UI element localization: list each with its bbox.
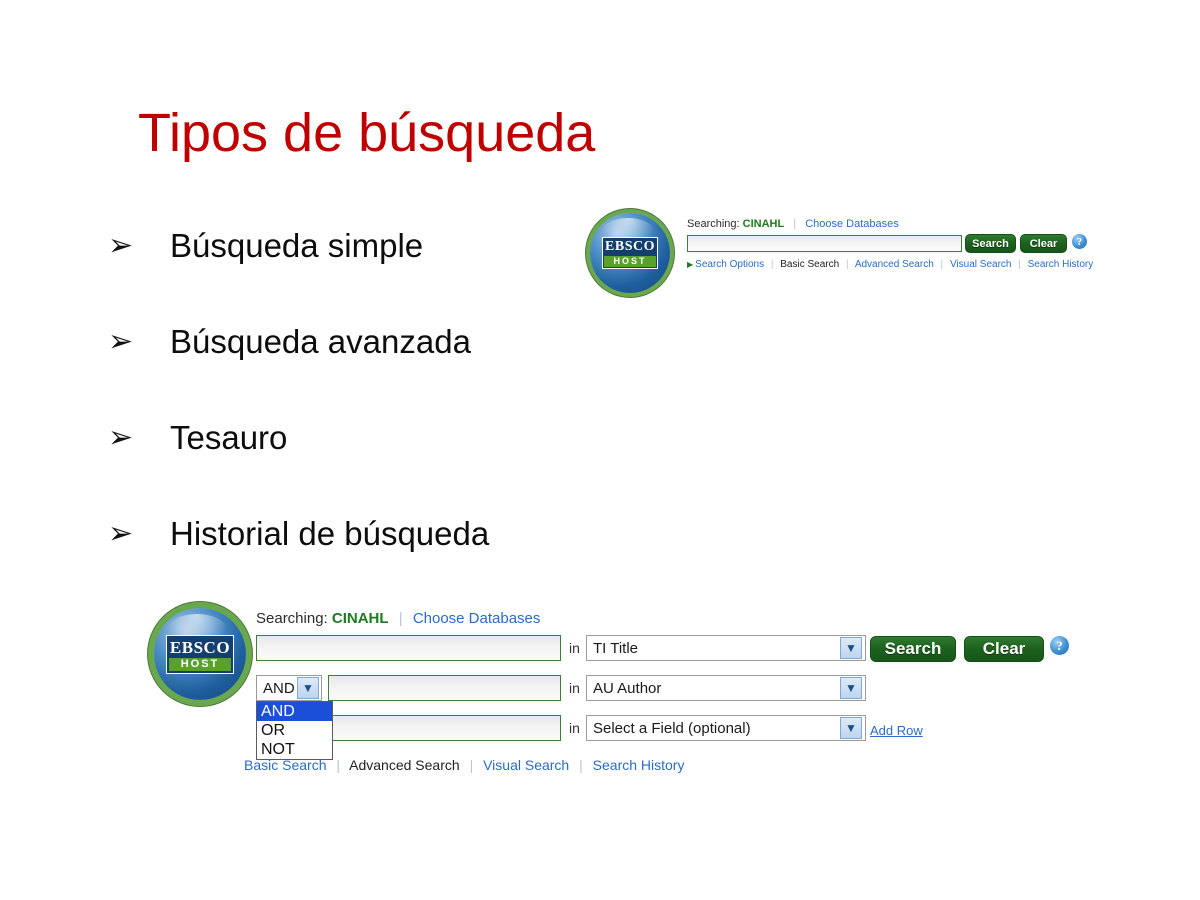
field-select-1[interactable]: TI Title ▼: [586, 635, 866, 661]
search-input[interactable]: [687, 235, 962, 252]
clear-button[interactable]: Clear: [1020, 234, 1067, 253]
list-item-label: Tesauro: [170, 416, 287, 460]
field-select-2[interactable]: AU Author ▼: [586, 675, 866, 701]
arrow-bullet-icon: ➢: [108, 320, 170, 364]
search-button[interactable]: Search: [965, 234, 1016, 253]
triangle-right-icon: ▶: [687, 260, 693, 269]
list-item: ➢ Historial de búsqueda: [108, 512, 628, 608]
in-label: in: [569, 640, 580, 656]
list-item-label: Búsqueda avanzada: [170, 320, 471, 364]
field-select-1-value: TI Title: [587, 640, 840, 657]
chevron-down-icon[interactable]: ▼: [840, 717, 862, 739]
help-icon[interactable]: ?: [1050, 636, 1069, 655]
ebsco-advanced-search-widget: EBSCO HOST Searching: CINAHL | Choose Da…: [148, 600, 1078, 780]
search-term-input-3[interactable]: [328, 715, 561, 741]
host-wordmark: HOST: [169, 658, 231, 671]
ebscohost-logo: EBSCO HOST: [590, 213, 670, 293]
ebscohost-logo-mark: EBSCO HOST: [166, 635, 234, 674]
add-row-link[interactable]: Add Row: [870, 723, 923, 738]
advanced-search-link[interactable]: Advanced Search: [349, 757, 460, 773]
separator: |: [399, 610, 403, 627]
visual-search-link[interactable]: Visual Search: [950, 259, 1012, 270]
boolean-operator-select[interactable]: AND ▼: [256, 675, 322, 701]
basic-search-link[interactable]: Basic Search: [780, 259, 839, 270]
choose-databases-link[interactable]: Choose Databases: [413, 610, 541, 627]
search-term-input-1[interactable]: [256, 635, 561, 661]
chevron-down-icon[interactable]: ▼: [297, 677, 319, 699]
active-database-name: CINAHL: [743, 218, 785, 230]
separator: |: [941, 259, 944, 270]
ebsco-wordmark: EBSCO: [604, 239, 656, 256]
separator: |: [771, 259, 774, 270]
ebscohost-logo-mark: EBSCO HOST: [602, 237, 658, 269]
list-item-label: Historial de búsqueda: [170, 512, 489, 556]
arrow-bullet-icon: ➢: [108, 224, 170, 268]
searching-bar: Searching: CINAHL | Choose Databases: [687, 218, 899, 230]
search-button[interactable]: Search: [870, 636, 956, 662]
page-title: Tipos de búsqueda: [138, 101, 595, 165]
field-select-2-value: AU Author: [587, 680, 840, 697]
list-item-label: Búsqueda simple: [170, 224, 423, 268]
help-icon[interactable]: ?: [1072, 234, 1087, 249]
boolean-operator-value: AND: [257, 680, 297, 697]
visual-search-link[interactable]: Visual Search: [483, 757, 569, 773]
chevron-down-icon[interactable]: ▼: [840, 637, 862, 659]
searching-label: Searching:: [256, 610, 328, 627]
dropdown-option-or[interactable]: OR: [257, 721, 332, 740]
in-label: in: [569, 720, 580, 736]
searching-bar: Searching: CINAHL | Choose Databases: [256, 610, 540, 627]
ebsco-wordmark: EBSCO: [169, 638, 231, 658]
list-item: ➢ Búsqueda simple: [108, 224, 628, 320]
list-item: ➢ Búsqueda avanzada: [108, 320, 628, 416]
search-term-input-2[interactable]: [328, 675, 561, 701]
searching-label: Searching:: [687, 218, 740, 230]
ebscohost-logo: EBSCO HOST: [154, 608, 246, 700]
list-item: ➢ Tesauro: [108, 416, 628, 512]
chevron-down-icon[interactable]: ▼: [840, 677, 862, 699]
separator: |: [1018, 259, 1021, 270]
advanced-search-link[interactable]: Advanced Search: [855, 259, 934, 270]
in-label: in: [569, 680, 580, 696]
dropdown-option-and[interactable]: AND: [257, 702, 332, 721]
bullet-list: ➢ Búsqueda simple ➢ Búsqueda avanzada ➢ …: [108, 224, 628, 608]
ebsco-basic-search-widget: EBSCO HOST Searching: CINAHL | Choose Da…: [582, 205, 1092, 297]
boolean-operator-dropdown-list[interactable]: AND OR NOT: [256, 701, 333, 760]
arrow-bullet-icon: ➢: [108, 416, 170, 460]
choose-databases-link[interactable]: Choose Databases: [805, 218, 899, 230]
search-history-link[interactable]: Search History: [1028, 259, 1094, 270]
search-history-link[interactable]: Search History: [593, 757, 685, 773]
separator: |: [579, 757, 583, 773]
dropdown-option-not[interactable]: NOT: [257, 740, 332, 759]
separator: |: [470, 757, 474, 773]
field-select-3-value: Select a Field (optional): [587, 720, 840, 737]
search-options-link[interactable]: Search Options: [695, 259, 764, 270]
clear-button[interactable]: Clear: [964, 636, 1044, 662]
separator: |: [336, 757, 340, 773]
field-select-3[interactable]: Select a Field (optional) ▼: [586, 715, 866, 741]
search-mode-nav: ▶Search Options | Basic Search | Advance…: [687, 259, 1093, 270]
host-wordmark: HOST: [604, 256, 656, 267]
arrow-bullet-icon: ➢: [108, 512, 170, 556]
separator: |: [846, 259, 849, 270]
separator: |: [793, 218, 796, 230]
active-database-name: CINAHL: [332, 610, 389, 627]
